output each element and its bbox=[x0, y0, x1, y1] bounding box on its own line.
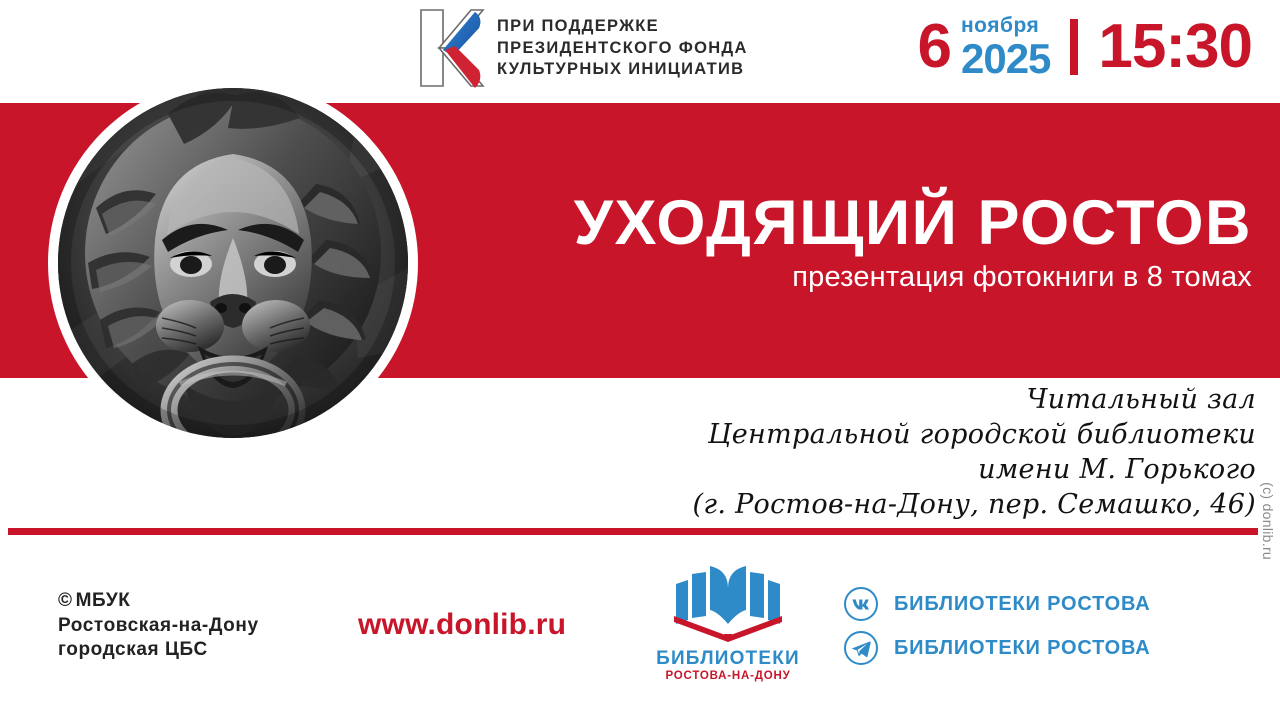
venue-block: Читальный зал Центральной городской библ… bbox=[516, 382, 1256, 522]
vk-icon[interactable] bbox=[843, 586, 879, 622]
library-logo-city: РОСТОВА-НА-ДОНУ bbox=[638, 671, 818, 683]
datetime-separator bbox=[1070, 19, 1078, 75]
social-label-vk[interactable]: БИБЛИОТЕКИ РОСТОВА bbox=[894, 594, 1150, 614]
presidential-cultural-initiatives-fund-logo bbox=[413, 6, 485, 90]
telegram-icon[interactable] bbox=[843, 630, 879, 666]
library-logo-block: БИБЛИОТЕКИ РОСТОВА-НА-ДОНУ bbox=[638, 558, 818, 683]
footer-divider bbox=[8, 528, 1258, 535]
event-month-year: ноября 2025 bbox=[961, 15, 1050, 80]
website-link[interactable]: www.donlib.ru bbox=[358, 608, 566, 642]
event-month: ноября bbox=[961, 15, 1050, 36]
fund-line-1: ПРИ ПОДДЕРЖКЕ bbox=[497, 17, 748, 35]
organization-line-1: ©МБУК bbox=[58, 589, 259, 614]
organization-line-3: городская ЦБС bbox=[58, 638, 259, 663]
lion-sculpture-illustration bbox=[58, 88, 408, 438]
fund-line-2: ПРЕЗИДЕНТСКОГО ФОНДА bbox=[497, 39, 748, 57]
lion-door-knocker-photo bbox=[58, 88, 408, 438]
vertical-credit: (c) donlib.ru bbox=[1260, 482, 1276, 560]
social-label-telegram[interactable]: БИБЛИОТЕКИ РОСТОВА bbox=[894, 638, 1150, 658]
event-year: 2025 bbox=[961, 38, 1050, 80]
venue-line-1: Читальный зал bbox=[516, 382, 1256, 417]
open-book-logo bbox=[664, 558, 792, 646]
page-subtitle: презентация фотокниги в 8 томах bbox=[552, 262, 1252, 294]
event-poster: ПРИ ПОДДЕРЖКЕ ПРЕЗИДЕНТСКОГО ФОНДА КУЛЬТ… bbox=[0, 0, 1280, 720]
social-row-telegram[interactable]: БИБЛИОТЕКИ РОСТОВА bbox=[843, 630, 1150, 666]
fund-support-block: ПРИ ПОДДЕРЖКЕ ПРЕЗИДЕНТСКОГО ФОНДА КУЛЬТ… bbox=[413, 6, 748, 90]
event-datetime: 6 ноября 2025 15:30 bbox=[918, 10, 1253, 84]
event-day: 6 bbox=[918, 16, 951, 78]
hero-image-frame bbox=[48, 78, 418, 448]
library-logo-name: БИБЛИОТЕКИ bbox=[638, 649, 818, 668]
fund-support-text: ПРИ ПОДДЕРЖКЕ ПРЕЗИДЕНТСКОГО ФОНДА КУЛЬТ… bbox=[497, 17, 748, 78]
copyright-icon: © bbox=[58, 589, 73, 614]
organization-name-short: МБУК bbox=[76, 590, 131, 611]
organization-block: ©МБУК Ростовская-на-Дону городская ЦБС bbox=[58, 589, 259, 663]
venue-line-2: Центральной городской библиотеки bbox=[516, 417, 1256, 452]
social-row-vk[interactable]: БИБЛИОТЕКИ РОСТОВА bbox=[843, 586, 1150, 622]
event-time: 15:30 bbox=[1098, 16, 1252, 78]
social-links: БИБЛИОТЕКИ РОСТОВА БИБЛИОТЕКИ РОСТОВА bbox=[843, 586, 1150, 666]
fund-line-3: КУЛЬТУРНЫХ ИНИЦИАТИВ bbox=[497, 60, 748, 78]
page-title: УХОДЯЩИЙ РОСТОВ bbox=[552, 192, 1252, 255]
venue-line-3: имени М. Горького bbox=[516, 452, 1256, 487]
organization-line-2: Ростовская-на-Дону bbox=[58, 614, 259, 639]
venue-line-4: (г. Ростов-на-Дону, пер. Семашко, 46) bbox=[516, 487, 1256, 522]
